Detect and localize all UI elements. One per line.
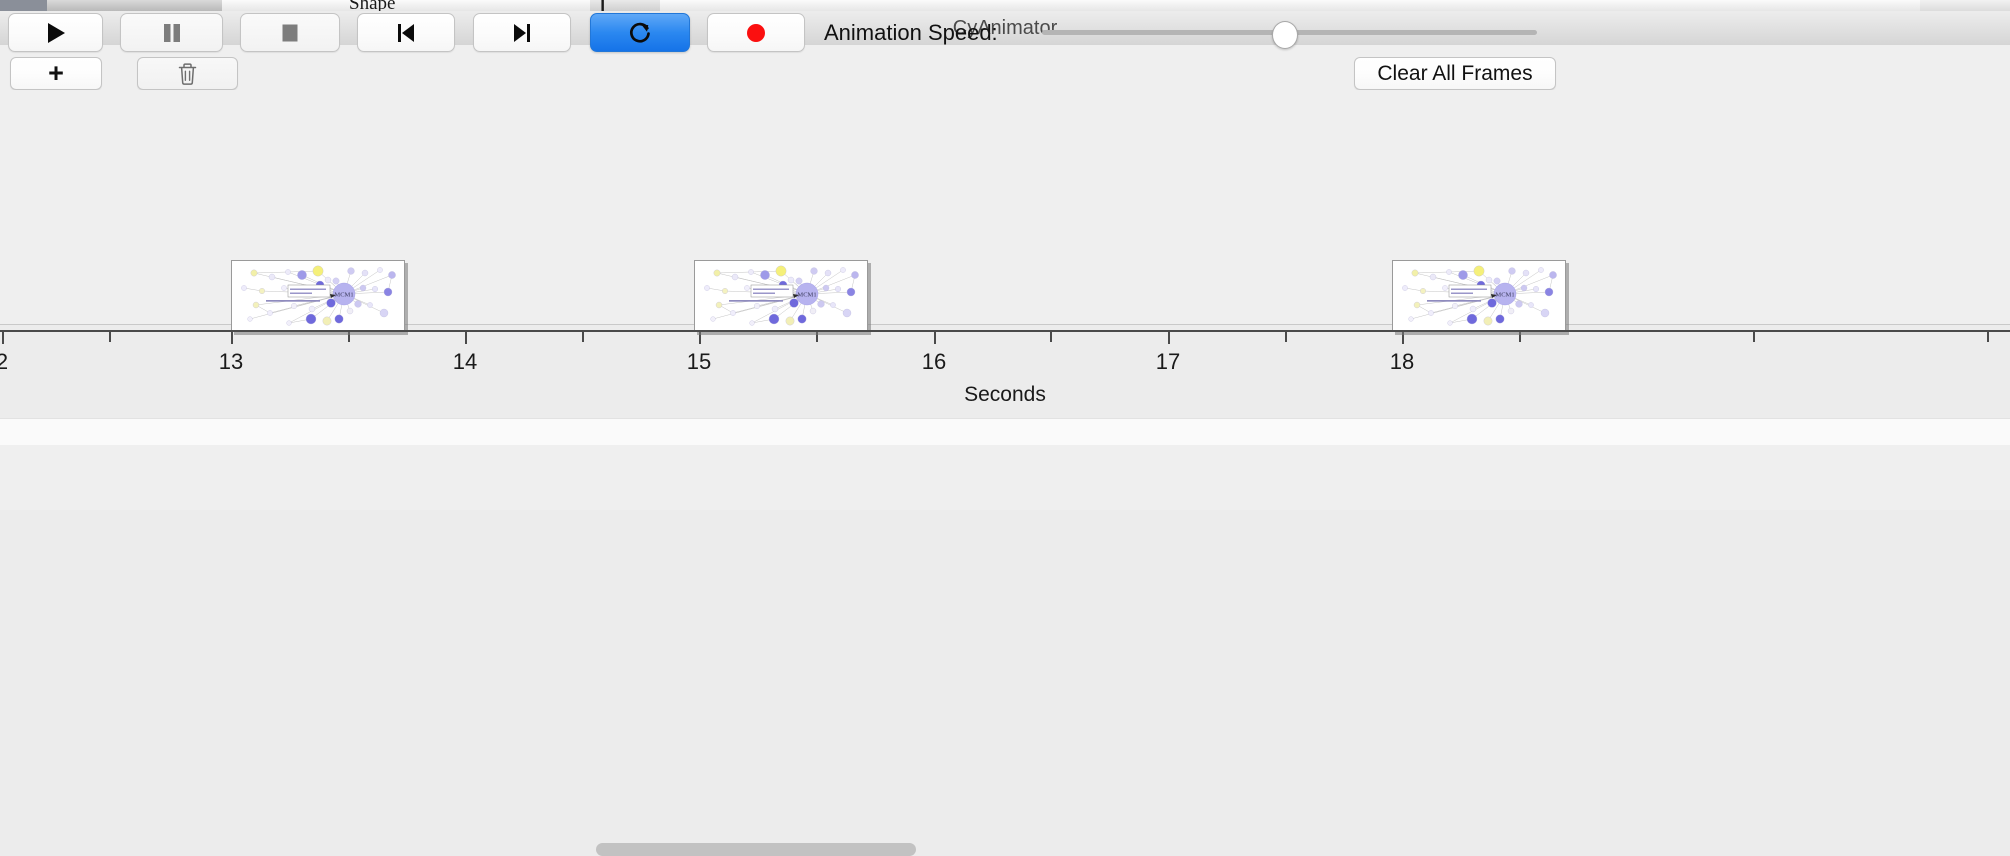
- background-seg-2: [277, 0, 531, 11]
- timeline-scrollbar-track[interactable]: [0, 418, 2010, 446]
- delete-frame-button[interactable]: [137, 57, 238, 90]
- timeline-tick-label: 15: [687, 349, 711, 375]
- network-graph-preview: MCM1: [695, 261, 867, 331]
- timeline-tick-label: 18: [1390, 349, 1414, 375]
- pause-button[interactable]: [120, 13, 223, 52]
- record-icon: [744, 21, 768, 45]
- timeline-tick-label: 16: [922, 349, 946, 375]
- timeline-minor-tick: [1519, 332, 1521, 342]
- background-window-strip: Shape |: [0, 0, 2010, 11]
- animation-speed-label: Animation Speed:: [824, 13, 998, 52]
- timeline-tick: [465, 332, 467, 344]
- timeline-tick: [699, 332, 701, 344]
- transport-bar: [0, 445, 2010, 510]
- timeline-scrollbar-thumb[interactable]: [596, 843, 916, 856]
- timeline-minor-tick: [1050, 332, 1052, 342]
- timeline-tick-label: 13: [219, 349, 243, 375]
- plus-icon: +: [48, 60, 64, 87]
- network-graph-preview: MCM1: [232, 261, 404, 331]
- timeline-minor-tick: [1285, 332, 1287, 342]
- timeline-axis: [0, 330, 2010, 332]
- play-icon: [45, 21, 67, 45]
- timeline-minor-tick: [1987, 332, 1989, 342]
- background-window-label: Shape: [349, 0, 395, 11]
- stop-icon: [279, 21, 301, 45]
- timeline-minor-tick: [109, 332, 111, 342]
- axis-title: Seconds: [0, 383, 2010, 407]
- clear-all-frames-button[interactable]: Clear All Frames: [1354, 57, 1556, 90]
- loop-icon: [627, 20, 653, 46]
- background-seg-3: [530, 0, 591, 11]
- timeline-tick: [1402, 332, 1404, 344]
- svg-text:MCM1: MCM1: [334, 292, 353, 299]
- timeline-minor-tick: [816, 332, 818, 342]
- stop-button[interactable]: [240, 13, 340, 52]
- timeline-frame-thumbnail[interactable]: MCM1: [231, 260, 405, 332]
- skip-back-icon: [395, 21, 417, 45]
- background-seg-7: [1085, 0, 1921, 11]
- background-seg-8: [1920, 0, 2010, 11]
- add-frame-button[interactable]: +: [10, 57, 102, 90]
- animation-speed-slider-thumb[interactable]: [1272, 21, 1298, 49]
- timeline-tick: [231, 332, 233, 344]
- svg-text:MCM1: MCM1: [1495, 292, 1514, 299]
- last-frame-button[interactable]: [473, 13, 571, 52]
- timeline-minor-tick: [1753, 332, 1755, 342]
- timeline-frame-thumbnail[interactable]: MCM1: [1392, 260, 1566, 332]
- play-button[interactable]: [8, 13, 103, 52]
- background-seg-5: [660, 0, 886, 11]
- background-seg-6: [885, 0, 1086, 11]
- svg-text:MCM1: MCM1: [797, 292, 816, 299]
- timeline-minor-tick: [348, 332, 350, 342]
- timeline-tick-label: 17: [1156, 349, 1180, 375]
- timeline-tick-label: 2: [0, 349, 8, 375]
- record-button[interactable]: [707, 13, 805, 52]
- skip-forward-icon: [511, 21, 533, 45]
- first-frame-button[interactable]: [357, 13, 455, 52]
- loop-button[interactable]: [590, 13, 690, 52]
- trash-icon: [177, 62, 198, 86]
- timeline-minor-tick: [582, 332, 584, 342]
- background-window-toolbar: [47, 0, 222, 11]
- timeline-tick: [1168, 332, 1170, 344]
- background-window-dark-panel: [0, 0, 47, 11]
- background-seg-1: [222, 0, 278, 11]
- clear-all-frames-label: Clear All Frames: [1377, 62, 1532, 86]
- cyanimator-window: Shape | CyAnimator + Clear All Frames 21…: [0, 0, 2010, 510]
- timeline-panel[interactable]: 2131415161718 MCM1MCM1MCM1 Seconds: [0, 90, 2010, 325]
- timeline-frame-thumbnail[interactable]: MCM1: [694, 260, 868, 332]
- pause-icon: [161, 21, 183, 45]
- timeline-tick-label: 14: [453, 349, 477, 375]
- network-graph-preview: MCM1: [1393, 261, 1565, 331]
- timeline-tick: [2, 332, 4, 344]
- timeline-tick: [934, 332, 936, 344]
